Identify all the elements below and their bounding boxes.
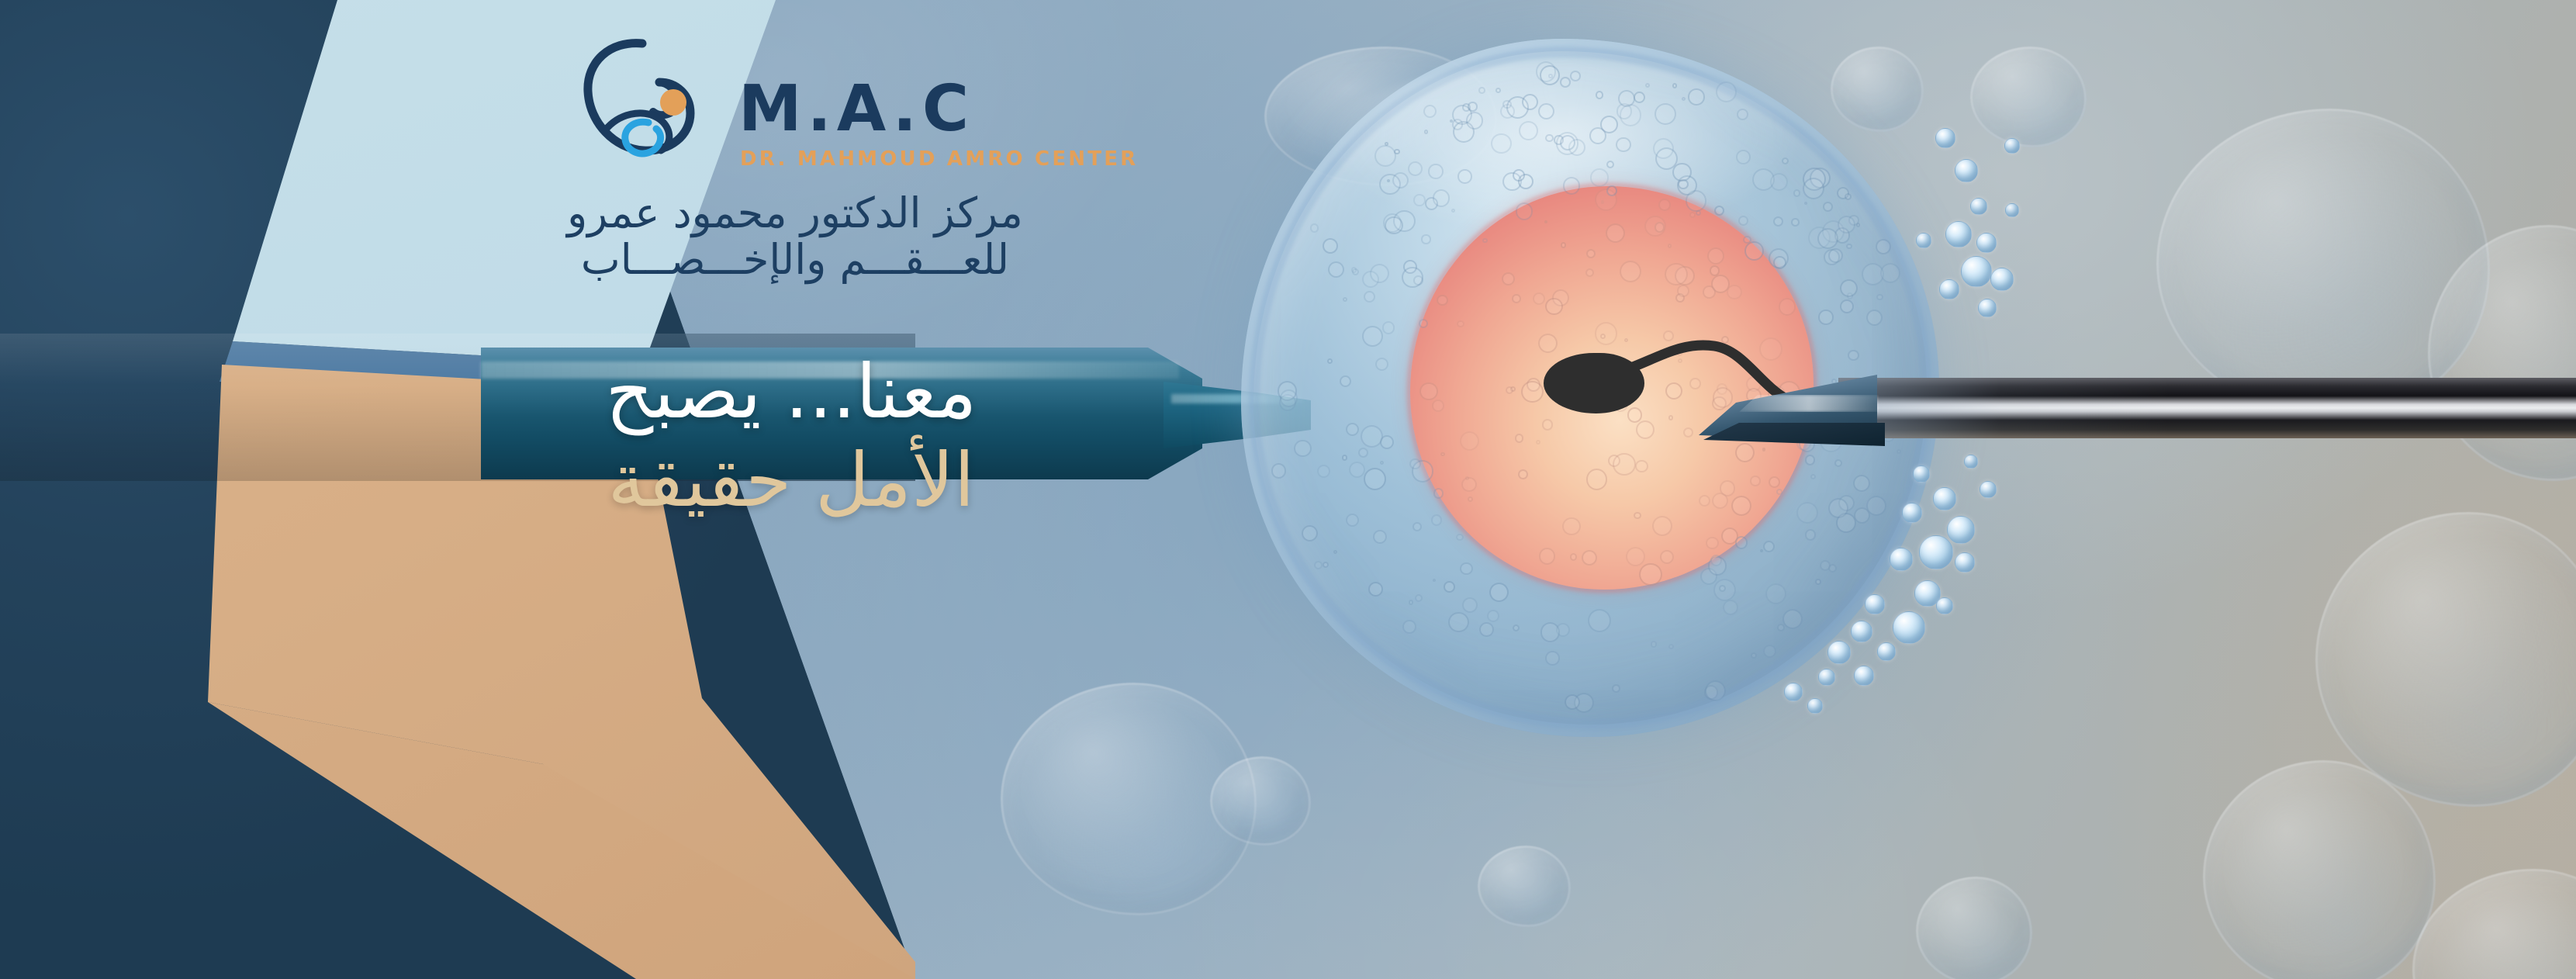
vesicle <box>1368 582 1383 597</box>
bubble <box>1851 621 1872 642</box>
vesicle <box>1343 297 1347 302</box>
bubble <box>1916 877 2032 979</box>
bubble <box>1955 552 1975 573</box>
vesicle <box>1563 177 1581 195</box>
vesicle <box>1590 168 1609 187</box>
vesicle <box>1448 612 1469 633</box>
vesicle <box>1556 132 1579 155</box>
vesicle <box>1346 514 1359 527</box>
vesicle <box>1539 548 1555 564</box>
vesicle <box>1769 476 1780 488</box>
vesicle <box>1791 218 1800 227</box>
vesicle <box>1280 389 1297 406</box>
vesicle <box>1570 553 1577 560</box>
vesicle <box>1545 298 1562 315</box>
vesicle <box>1635 460 1648 472</box>
vesicle <box>1402 620 1416 633</box>
vesicle <box>1431 514 1442 525</box>
vesicle <box>1457 169 1472 184</box>
vesicle <box>1562 517 1581 536</box>
bubble <box>1947 516 1975 544</box>
vesicle <box>1409 600 1413 604</box>
vesicle <box>1437 295 1447 306</box>
vesicle <box>1456 534 1463 541</box>
vesicle <box>1620 261 1641 282</box>
bubble <box>1916 233 1931 248</box>
bubble <box>1827 641 1851 664</box>
vesicle <box>1705 680 1726 701</box>
vesicle <box>1515 434 1523 442</box>
vesicle <box>1773 216 1783 227</box>
slogan: معنا... يصبح الأمل حقيقة <box>450 353 1132 523</box>
vesicle <box>1596 91 1603 99</box>
vesicle <box>1678 179 1689 190</box>
vesicle <box>1736 150 1751 164</box>
vesicle <box>1810 474 1816 479</box>
vesicle <box>1440 452 1445 457</box>
vesicle <box>1737 109 1748 120</box>
vesicle <box>1779 298 1796 315</box>
vesicle <box>1651 641 1657 647</box>
vesicle <box>1876 239 1891 254</box>
bubble <box>1854 666 1874 686</box>
vesicle <box>1706 537 1719 550</box>
vesicle <box>1419 382 1437 400</box>
vesicle <box>1840 299 1854 313</box>
bubble <box>1970 47 2087 147</box>
brand-subtitle: DR. MAHMOUD AMRO CENTER <box>740 147 1138 171</box>
vesicle <box>1688 88 1704 105</box>
vesicle <box>1744 241 1764 261</box>
vesicle <box>1310 223 1319 233</box>
vesicle <box>1432 400 1444 412</box>
vesicle <box>1616 137 1630 152</box>
vesicle <box>1773 256 1786 269</box>
vesicle <box>1677 285 1689 297</box>
vesicle <box>1362 271 1379 288</box>
bubble <box>1865 594 1885 614</box>
vesicle <box>1805 529 1816 540</box>
bubble <box>1945 221 1972 247</box>
vesicle <box>1707 247 1724 265</box>
vesicle <box>1652 516 1672 536</box>
bubble <box>1807 698 1823 714</box>
arabic-name-line-1: مركز الدكتور محمود عمرو <box>465 190 1125 237</box>
vesicle <box>1689 212 1696 218</box>
vesicle <box>1750 476 1761 486</box>
bubble <box>1955 159 1978 182</box>
vesicle <box>1351 267 1357 273</box>
vesicle <box>1793 189 1800 196</box>
vesicle <box>1620 104 1642 126</box>
arabic-clinic-name: مركز الدكتور محمود عمرو للعـــقـــم والإ… <box>465 190 1125 284</box>
injection-needle <box>1699 378 2576 463</box>
vesicle <box>1866 310 1883 326</box>
vesicle <box>1478 87 1485 93</box>
vesicle <box>1796 502 1818 524</box>
vesicle <box>1699 495 1710 507</box>
clinic-banner: M.A.C DR. MAHMOUD AMRO CENTER مركز الدكت… <box>0 0 2576 979</box>
vesicle <box>1462 597 1478 613</box>
bubble <box>1890 548 1913 571</box>
vesicle <box>1374 145 1396 167</box>
vesicle <box>1489 583 1509 602</box>
vesicle <box>1542 419 1553 430</box>
bubble <box>1939 279 1959 299</box>
needle-fade <box>1838 378 2576 438</box>
vesicle <box>1314 561 1323 569</box>
vesicle <box>1595 189 1618 212</box>
vesicle <box>1840 279 1858 297</box>
vesicle <box>1668 244 1672 247</box>
vesicle <box>1624 338 1628 342</box>
vesicle <box>1536 61 1556 81</box>
vesicle <box>1317 465 1330 478</box>
bubble <box>1936 597 1953 614</box>
vesicle <box>1626 547 1645 566</box>
vesicle <box>1487 610 1499 622</box>
vesicle <box>1721 528 1738 545</box>
vesicle <box>1349 462 1365 478</box>
vesicle <box>1323 238 1338 254</box>
vesicle <box>1634 512 1641 519</box>
bubble <box>1877 642 1896 661</box>
vesicle <box>1561 242 1566 247</box>
vesicle <box>1383 213 1402 233</box>
bubble <box>1970 198 1987 215</box>
bubble <box>2005 203 2019 217</box>
vesicle <box>1723 600 1739 616</box>
vesicle <box>1634 92 1645 103</box>
vesicle <box>1444 581 1455 593</box>
vesicle <box>1450 119 1453 123</box>
vesicle <box>1782 609 1803 629</box>
vesicle <box>1409 458 1420 469</box>
bubble <box>1913 465 1930 483</box>
bubble <box>1976 233 1997 253</box>
bubble <box>1978 299 1997 317</box>
brand-lockup: M.A.C DR. MAHMOUD AMRO CENTER <box>574 31 1117 209</box>
vesicle <box>1428 164 1443 178</box>
vesicle <box>1294 440 1312 458</box>
vesicle <box>1502 100 1512 109</box>
vesicle <box>1413 194 1425 206</box>
vesicle <box>1433 488 1444 498</box>
bubble <box>1784 683 1803 701</box>
vesicle <box>1491 133 1512 154</box>
vesicle <box>1655 103 1676 125</box>
vesicle <box>1828 498 1848 518</box>
vesicle <box>1582 550 1597 566</box>
bubble <box>1893 611 1925 644</box>
slogan-line-2: الأمل حقيقة <box>450 438 1132 523</box>
vesicle <box>1516 202 1533 220</box>
bubble <box>1933 487 1956 510</box>
vesicle <box>1719 585 1726 592</box>
vesicle <box>1665 263 1687 285</box>
vesicle <box>1468 102 1477 111</box>
vesicle <box>1364 468 1386 490</box>
vesicle <box>1421 234 1430 244</box>
vesicle <box>1612 684 1620 693</box>
vesicle <box>1818 310 1833 324</box>
vesicle <box>1606 223 1625 243</box>
vesicle <box>1711 275 1730 293</box>
vesicle <box>1518 469 1528 479</box>
vesicle <box>1556 623 1570 637</box>
vesicle <box>1424 130 1429 134</box>
vesicle <box>1466 112 1484 130</box>
vesicle <box>1817 228 1838 249</box>
bubble <box>1818 669 1835 686</box>
vesicle <box>1815 579 1821 585</box>
vesicle <box>1382 321 1395 334</box>
vesicle <box>1271 463 1286 478</box>
bubble <box>1980 481 1997 498</box>
vesicle <box>1323 562 1329 568</box>
vesicle <box>1613 453 1636 476</box>
vesicle <box>1362 326 1383 347</box>
vesicle <box>1777 624 1785 631</box>
vesicle <box>1846 244 1852 249</box>
vesicle <box>1513 169 1525 182</box>
vesicle <box>1708 556 1727 576</box>
vesicle <box>1512 294 1521 303</box>
vesicle <box>1479 622 1494 637</box>
brand-name: M.A.C <box>738 78 974 141</box>
bubble <box>1210 756 1311 846</box>
vesicle <box>1402 267 1423 289</box>
bubble <box>2004 138 2020 154</box>
vesicle <box>1457 320 1464 327</box>
vesicle <box>1461 477 1476 492</box>
mother-and-child-swirl-icon <box>574 31 706 163</box>
bubble <box>1990 268 2014 291</box>
vesicle <box>1639 563 1662 586</box>
vesicle <box>1804 202 1807 205</box>
bubble <box>1902 503 1922 523</box>
bubble <box>1919 535 1953 569</box>
arabic-name-line-2: للعـــقـــم والإخـــصـــاب <box>465 237 1125 283</box>
vesicle <box>1545 134 1553 142</box>
vesicle <box>1495 88 1501 93</box>
vesicle <box>1880 263 1900 283</box>
vesicle <box>1644 216 1666 237</box>
vesicle <box>1600 116 1618 133</box>
vesicle <box>1765 583 1786 604</box>
vesicle <box>1653 138 1674 159</box>
slogan-line-1: معنا... يصبح <box>450 353 1132 431</box>
needle-bevel-highlight <box>1739 395 1879 412</box>
vesicle <box>1460 562 1473 576</box>
vesicle <box>1538 334 1558 353</box>
bubble <box>1478 846 1571 927</box>
vesicle <box>1570 71 1581 81</box>
vesicle <box>1482 238 1487 243</box>
bubble <box>1961 256 1992 287</box>
vesicle <box>1380 461 1384 465</box>
vesicle <box>1465 476 1469 480</box>
vesicle <box>1545 651 1559 665</box>
vesicle <box>1333 550 1337 554</box>
bubble <box>1935 128 1955 148</box>
